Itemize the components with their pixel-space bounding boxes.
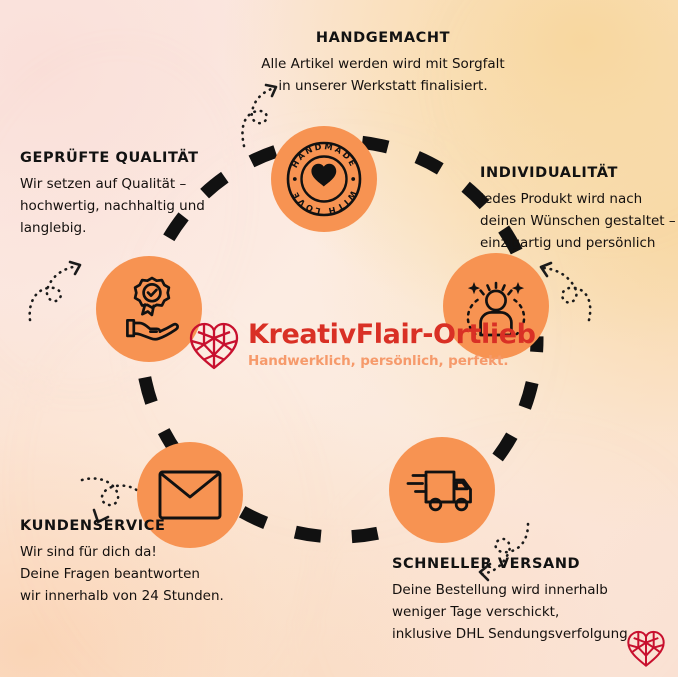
section-body-handmade: Alle Artikel werden wird mit Sorgfalt in…	[243, 54, 523, 98]
icon-circle-quality[interactable]	[96, 256, 202, 362]
section-quality: GEPRÜFTE QUALITÄT Wir setzen auf Qualitä…	[20, 150, 235, 240]
icon-circle-shipping[interactable]	[389, 437, 495, 543]
infographic-poster: HANDMADE WITH LOVE	[0, 0, 678, 677]
section-title-service: KUNDENSERVICE	[20, 518, 260, 534]
section-title-handmade: HANDGEMACHT	[243, 30, 523, 46]
section-body-quality: Wir setzen auf Qualität – hochwertig, na…	[20, 174, 235, 240]
section-title-individuality: INDIVIDUALITÄT	[480, 165, 678, 181]
section-handmade: HANDGEMACHT Alle Artikel werden wird mit…	[243, 30, 523, 98]
delivery-truck-icon	[404, 462, 480, 518]
section-service: KUNDENSERVICE Wir sind für dich da! Dein…	[20, 518, 260, 608]
handmade-with-love-stamp-icon: HANDMADE WITH LOVE	[285, 140, 363, 218]
section-individuality: INDIVIDUALITÄT Jedes Produkt wird nach d…	[480, 165, 678, 255]
geometric-heart-icon	[188, 319, 240, 371]
section-title-shipping: SCHNELLER VERSAND	[392, 556, 662, 572]
envelope-icon	[158, 470, 222, 520]
logo-name: KreativFlair-Ortlieb	[248, 321, 536, 349]
section-shipping: SCHNELLER VERSAND Deine Bestellung wird …	[392, 556, 662, 646]
watermark-geometric-heart-icon	[626, 628, 666, 668]
brand-logo: KreativFlair-Ortlieb Handwerklich, persö…	[188, 312, 462, 378]
section-body-service: Wir sind für dich da! Deine Fragen beant…	[20, 542, 260, 608]
logo-tagline: Handwerklich, persönlich, perfekt.	[248, 353, 536, 369]
dotted-arrow-quality-icon	[22, 248, 102, 324]
hand-holding-quality-badge-icon	[114, 274, 184, 344]
icon-circle-handmade[interactable]: HANDMADE WITH LOVE	[271, 126, 377, 232]
section-body-shipping: Deine Bestellung wird innerhalb weniger …	[392, 580, 662, 646]
svg-text:WITH LOVE: WITH LOVE	[289, 189, 358, 217]
section-title-quality: GEPRÜFTE QUALITÄT	[20, 150, 235, 166]
section-body-individuality: Jedes Produkt wird nach deinen Wünschen …	[480, 189, 678, 255]
